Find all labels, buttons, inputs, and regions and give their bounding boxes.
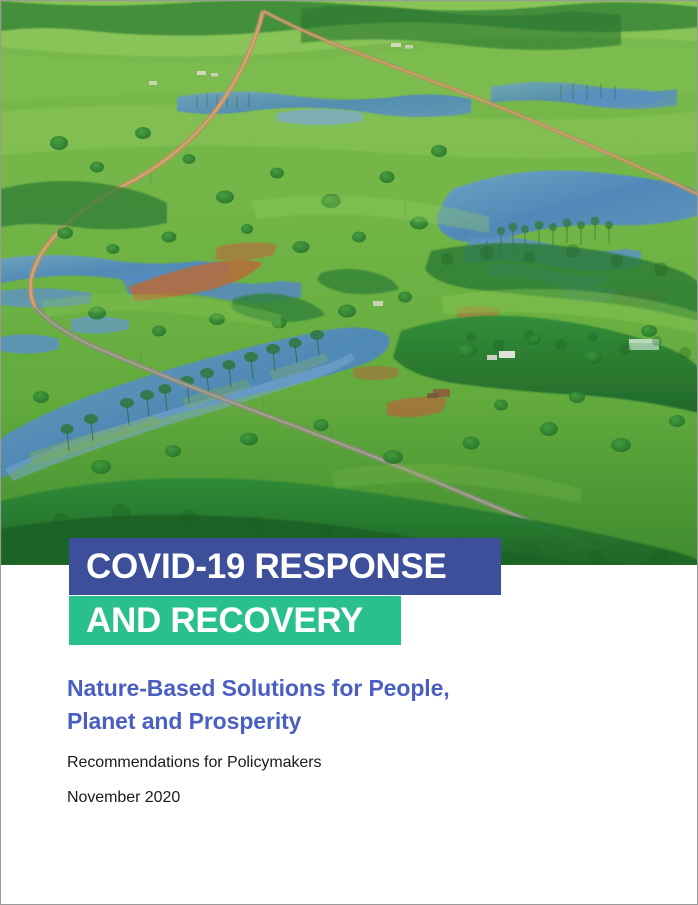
subtitle: Nature-Based Solutions for People, Plane… bbox=[67, 672, 537, 738]
audience-line: Recommendations for Policymakers bbox=[67, 755, 322, 771]
cover-photo bbox=[1, 1, 698, 565]
subtitle-line-2: Planet and Prosperity bbox=[67, 705, 537, 738]
title-line-2: AND RECOVERY bbox=[86, 603, 363, 638]
aerial-landscape-illustration bbox=[1, 1, 698, 565]
report-cover-page: COVID-19 RESPONSE AND RECOVERY Nature-Ba… bbox=[0, 0, 698, 905]
title-banner-primary: COVID-19 RESPONSE bbox=[69, 538, 501, 595]
title-line-1: COVID-19 RESPONSE bbox=[86, 549, 447, 584]
title-banner-secondary: AND RECOVERY bbox=[69, 596, 401, 645]
subtitle-line-1: Nature-Based Solutions for People, bbox=[67, 672, 537, 705]
publication-date: November 2020 bbox=[67, 790, 180, 806]
